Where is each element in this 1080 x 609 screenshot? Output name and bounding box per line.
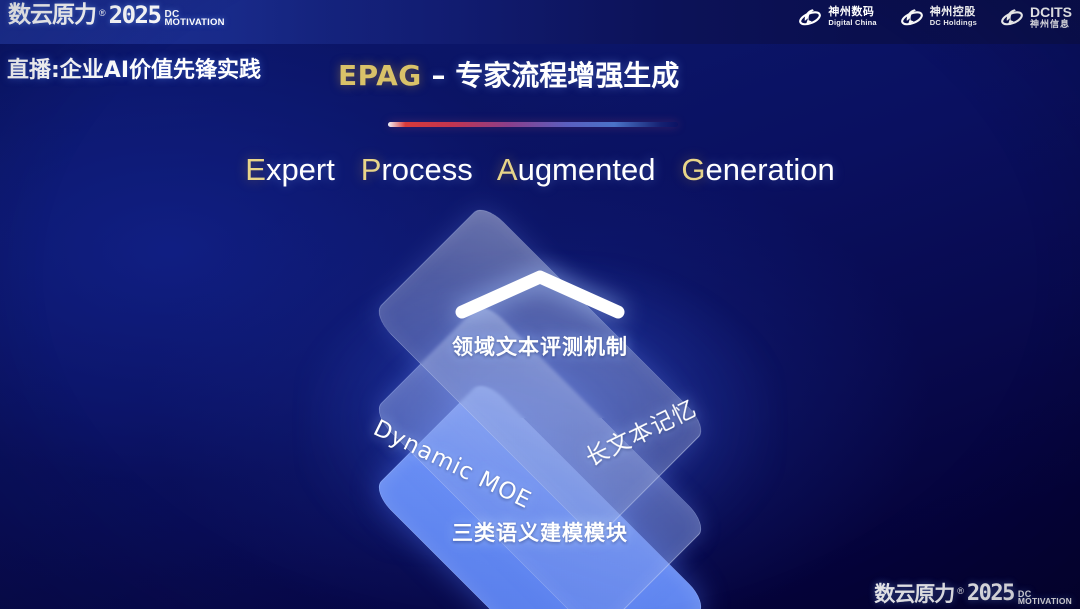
partner-logo-text: 神州控股 DC Holdings — [930, 7, 977, 26]
subtitle-word-process: Process — [361, 152, 473, 187]
subtitle-cap: P — [361, 152, 382, 187]
partner-logo-dc-holdings: 神州控股 DC Holdings — [899, 4, 977, 30]
subtitle-rest: ugmented — [518, 152, 656, 187]
subtitle-cap: G — [681, 152, 705, 187]
partner-logo-text: 神州数码 Digital China — [828, 7, 876, 26]
subtitle-word-augmented: Augmented — [497, 152, 656, 187]
watermark-year: 2025 — [967, 583, 1014, 605]
subtitle-rest: rocess — [381, 152, 472, 187]
partner-logo-text: DCITS 神州信息 — [1030, 5, 1072, 29]
layer-stack-diagram: 领域文本评测机制 Dynamic MOE 长文本记忆 三类语义建模模块 — [0, 218, 1080, 588]
partner-logo-digital-china: 神州数码 Digital China — [797, 4, 876, 30]
subtitle-word-expert: Expert — [245, 152, 335, 187]
partner-logo-dcits: DCITS 神州信息 — [999, 4, 1072, 30]
subtitle-cap: A — [497, 152, 518, 187]
registered-mark-icon: ® — [99, 8, 106, 18]
brand-dc-motivation: DC MOTIVATION — [164, 10, 224, 28]
subtitle-word-generation: Generation — [681, 152, 834, 187]
partner-logo-row: 神州数码 Digital China 神州控股 DC Holdings — [797, 4, 1072, 30]
event-brand-logo: 数云原力 ® 2025 DC MOTIVATION — [8, 3, 225, 27]
swoosh-icon — [999, 4, 1025, 30]
brand-name-cn: 数云原力 — [8, 4, 96, 27]
subtitle-space — [481, 152, 490, 187]
subtitle-rest: xpert — [266, 152, 335, 187]
title-divider — [388, 122, 678, 127]
page-title-acronym: EPAG — [338, 59, 422, 92]
swoosh-icon — [899, 4, 925, 30]
brand-motivation-label: MOTIVATION — [164, 19, 224, 28]
partner-name-en: DC Holdings — [930, 19, 977, 27]
watermark-motivation-label: MOTIVATION — [1018, 598, 1072, 606]
partner-name-en: Digital China — [828, 19, 876, 27]
registered-mark-icon: ® — [957, 586, 964, 596]
subtitle-cap: E — [245, 152, 266, 187]
top-banner: 数云原力 ® 2025 DC MOTIVATION 神州数码 Digital C… — [0, 0, 1080, 44]
subtitle-space — [343, 152, 352, 187]
partner-name-cn: DCITS — [1030, 5, 1072, 20]
page-title-rest: – 专家流程增强生成 — [422, 59, 680, 92]
subtitle-expansion: Expert Process Augmented Generation — [0, 152, 1080, 188]
page-title: EPAG – 专家流程增强生成 — [338, 54, 679, 94]
stack-layer-top-label: 领域文本评测机制 — [0, 331, 1080, 361]
swoosh-icon — [797, 4, 823, 30]
subtitle-rest: eneration — [705, 152, 834, 187]
corner-watermark-logo: 数云原力 ® 2025 DC MOTIVATION — [874, 583, 1072, 605]
brand-year: 2025 — [109, 3, 161, 27]
stack-layer-bottom-label: 三类语义建模模块 — [0, 517, 1080, 547]
live-session-title: 直播:企业AI价值先锋实践 — [7, 52, 261, 84]
watermark-name-cn: 数云原力 — [874, 584, 954, 605]
chevron-up-icon — [452, 266, 628, 322]
partner-name-en: 神州信息 — [1030, 20, 1072, 29]
watermark-dc-motivation: DC MOTIVATION — [1018, 590, 1072, 606]
subtitle-space — [664, 152, 673, 187]
slide-root: 数云原力 ® 2025 DC MOTIVATION 神州数码 Digital C… — [0, 0, 1080, 609]
